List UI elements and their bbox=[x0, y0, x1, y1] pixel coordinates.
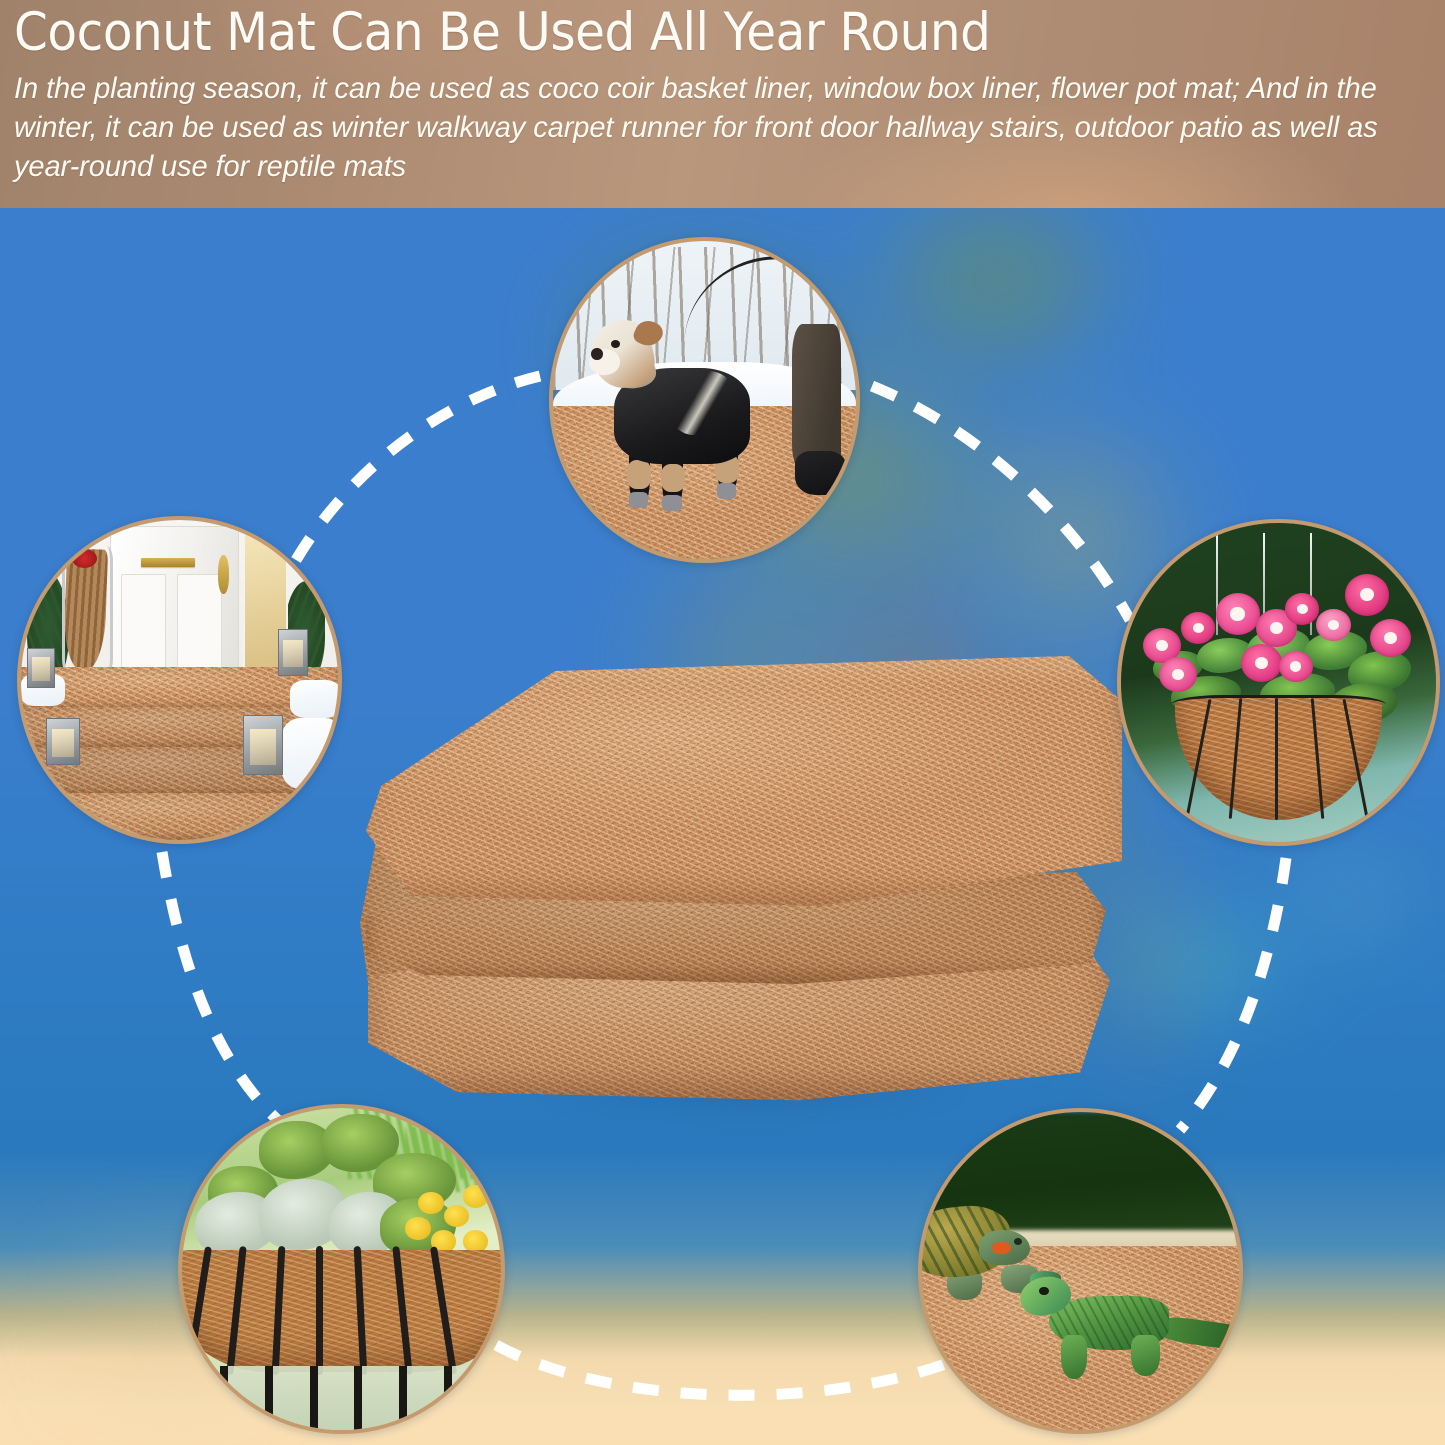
dog-eye bbox=[611, 340, 620, 348]
header-banner: Coconut Mat Can Be Used All Year Round I… bbox=[0, 0, 1445, 208]
photo-front-door bbox=[21, 520, 338, 840]
yellow-flower bbox=[405, 1217, 431, 1240]
lantern-glass-upper-right bbox=[283, 640, 302, 668]
red-bow-decoration bbox=[72, 549, 97, 568]
petunia-flower bbox=[1241, 644, 1282, 682]
brass-door-handle bbox=[218, 555, 229, 593]
basket-metal-rim bbox=[1171, 695, 1385, 714]
dog-coat-stripe bbox=[668, 371, 735, 435]
product-image-coconut-mat-stack bbox=[360, 650, 1128, 1105]
page-title: Coconut Mat Can Be Used All Year Round bbox=[14, 0, 1311, 64]
lantern-upper-right bbox=[278, 629, 309, 676]
use-case-photo-reptile-mat bbox=[918, 1108, 1243, 1434]
railing-bar bbox=[354, 1366, 362, 1430]
person-leg bbox=[792, 324, 840, 470]
dog-paw-wrap bbox=[627, 460, 651, 489]
door-panel-inset-left bbox=[121, 574, 166, 679]
turtle-red-ear-patch bbox=[992, 1242, 1011, 1253]
railing-bar bbox=[444, 1366, 452, 1430]
railing-bar bbox=[220, 1366, 228, 1430]
petunia-flower bbox=[1370, 619, 1411, 657]
lantern-far-left bbox=[27, 648, 54, 688]
photo-reptile-mat bbox=[922, 1112, 1239, 1430]
dog-boot-2 bbox=[662, 495, 682, 511]
lantern-left bbox=[46, 718, 80, 765]
use-case-photo-front-door-stairs bbox=[17, 516, 342, 844]
use-case-photo-hanging-basket-liner bbox=[1117, 519, 1440, 846]
lantern-glass-far-left bbox=[32, 657, 49, 681]
lantern-right bbox=[243, 715, 283, 775]
dog-paw-wrap-2 bbox=[661, 464, 685, 493]
header-description: In the planting season, it can be used a… bbox=[14, 64, 1410, 186]
mat-top-layer bbox=[366, 656, 1122, 906]
yellow-flower bbox=[463, 1185, 489, 1208]
brass-mail-slot bbox=[141, 558, 195, 567]
step-coir-mat-bottom bbox=[21, 793, 338, 840]
snow-patch-right-lower bbox=[281, 718, 342, 788]
photo-hanging-basket bbox=[1121, 523, 1436, 842]
railing-bar bbox=[399, 1366, 407, 1430]
use-case-photo-winter-walkway bbox=[549, 237, 860, 563]
basket-wire-rib bbox=[1275, 698, 1278, 819]
planter-metal-strap bbox=[316, 1246, 323, 1375]
lantern-glass-left bbox=[52, 729, 74, 757]
snow-patch-right bbox=[290, 680, 341, 718]
petunia-flower bbox=[1159, 657, 1197, 692]
use-case-photo-window-box-liner bbox=[178, 1104, 505, 1434]
person-boot bbox=[795, 451, 847, 496]
dog-boot-3 bbox=[717, 483, 737, 499]
railing-bar bbox=[265, 1366, 273, 1430]
petunia-flower bbox=[1216, 593, 1260, 634]
dog-nose bbox=[591, 348, 603, 361]
yellow-flower bbox=[444, 1205, 470, 1228]
coco-coir-window-box-liner bbox=[178, 1250, 505, 1372]
lizard-front-leg bbox=[1061, 1335, 1086, 1380]
turtle-eye bbox=[1014, 1238, 1022, 1245]
dog-boot bbox=[629, 492, 649, 508]
petunia-flower bbox=[1316, 609, 1351, 641]
product-infographic: Coconut Mat Can Be Used All Year Round I… bbox=[0, 0, 1445, 1445]
lizard-rear-leg bbox=[1131, 1335, 1160, 1376]
photo-window-box bbox=[182, 1108, 501, 1430]
photo-winter-walkway bbox=[553, 241, 856, 559]
yellow-flower bbox=[418, 1192, 444, 1215]
lizard-eye bbox=[1039, 1287, 1049, 1295]
petunia-flower bbox=[1345, 574, 1389, 615]
railing-backdrop bbox=[182, 1366, 501, 1430]
door-panel-inset-right bbox=[177, 574, 222, 679]
lantern-glass-right bbox=[250, 729, 276, 765]
railing-bar bbox=[310, 1366, 318, 1430]
